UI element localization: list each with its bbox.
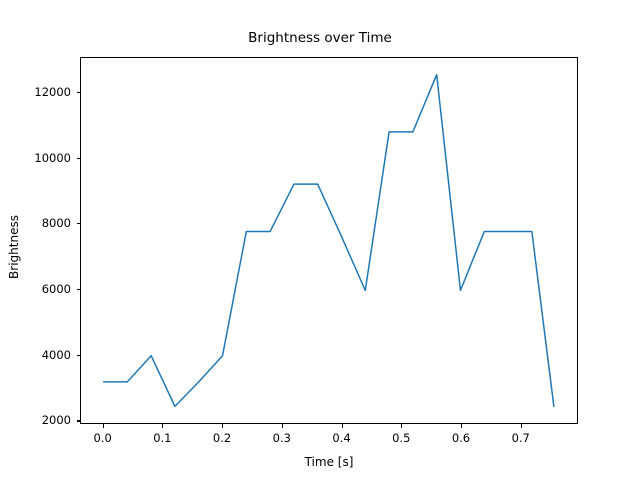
x-tickmark bbox=[342, 424, 343, 428]
x-tick-label: 0.6 bbox=[452, 431, 470, 445]
x-tickmark bbox=[282, 424, 283, 428]
y-tick-label: 2000 bbox=[0, 413, 71, 427]
x-tick-label: 0.3 bbox=[273, 431, 291, 445]
x-tickmark bbox=[401, 424, 402, 428]
y-tick-label: 6000 bbox=[0, 282, 71, 296]
y-tick-label: 12000 bbox=[0, 85, 71, 99]
x-tick-label: 0.1 bbox=[153, 431, 171, 445]
brightness-line-series bbox=[104, 75, 554, 407]
x-tickmark bbox=[103, 424, 104, 428]
chart-title: Brightness over Time bbox=[0, 30, 640, 46]
y-tick-label: 10000 bbox=[0, 151, 71, 165]
x-tickmark bbox=[222, 424, 223, 428]
figure-canvas: Brightness over Time Brightness Time [s]… bbox=[0, 0, 640, 480]
x-tickmark bbox=[461, 424, 462, 428]
x-tick-label: 0.4 bbox=[332, 431, 350, 445]
x-tick-label: 0.7 bbox=[512, 431, 530, 445]
x-tickmark bbox=[162, 424, 163, 428]
data-line-svg bbox=[81, 58, 577, 423]
x-tick-label: 0.0 bbox=[93, 431, 111, 445]
x-tick-label: 0.2 bbox=[213, 431, 231, 445]
y-tick-label: 4000 bbox=[0, 348, 71, 362]
x-tick-label: 0.5 bbox=[392, 431, 410, 445]
x-axis-label: Time [s] bbox=[80, 455, 578, 469]
y-tick-label: 8000 bbox=[0, 216, 71, 230]
x-tickmark bbox=[521, 424, 522, 428]
plot-area bbox=[80, 57, 578, 424]
